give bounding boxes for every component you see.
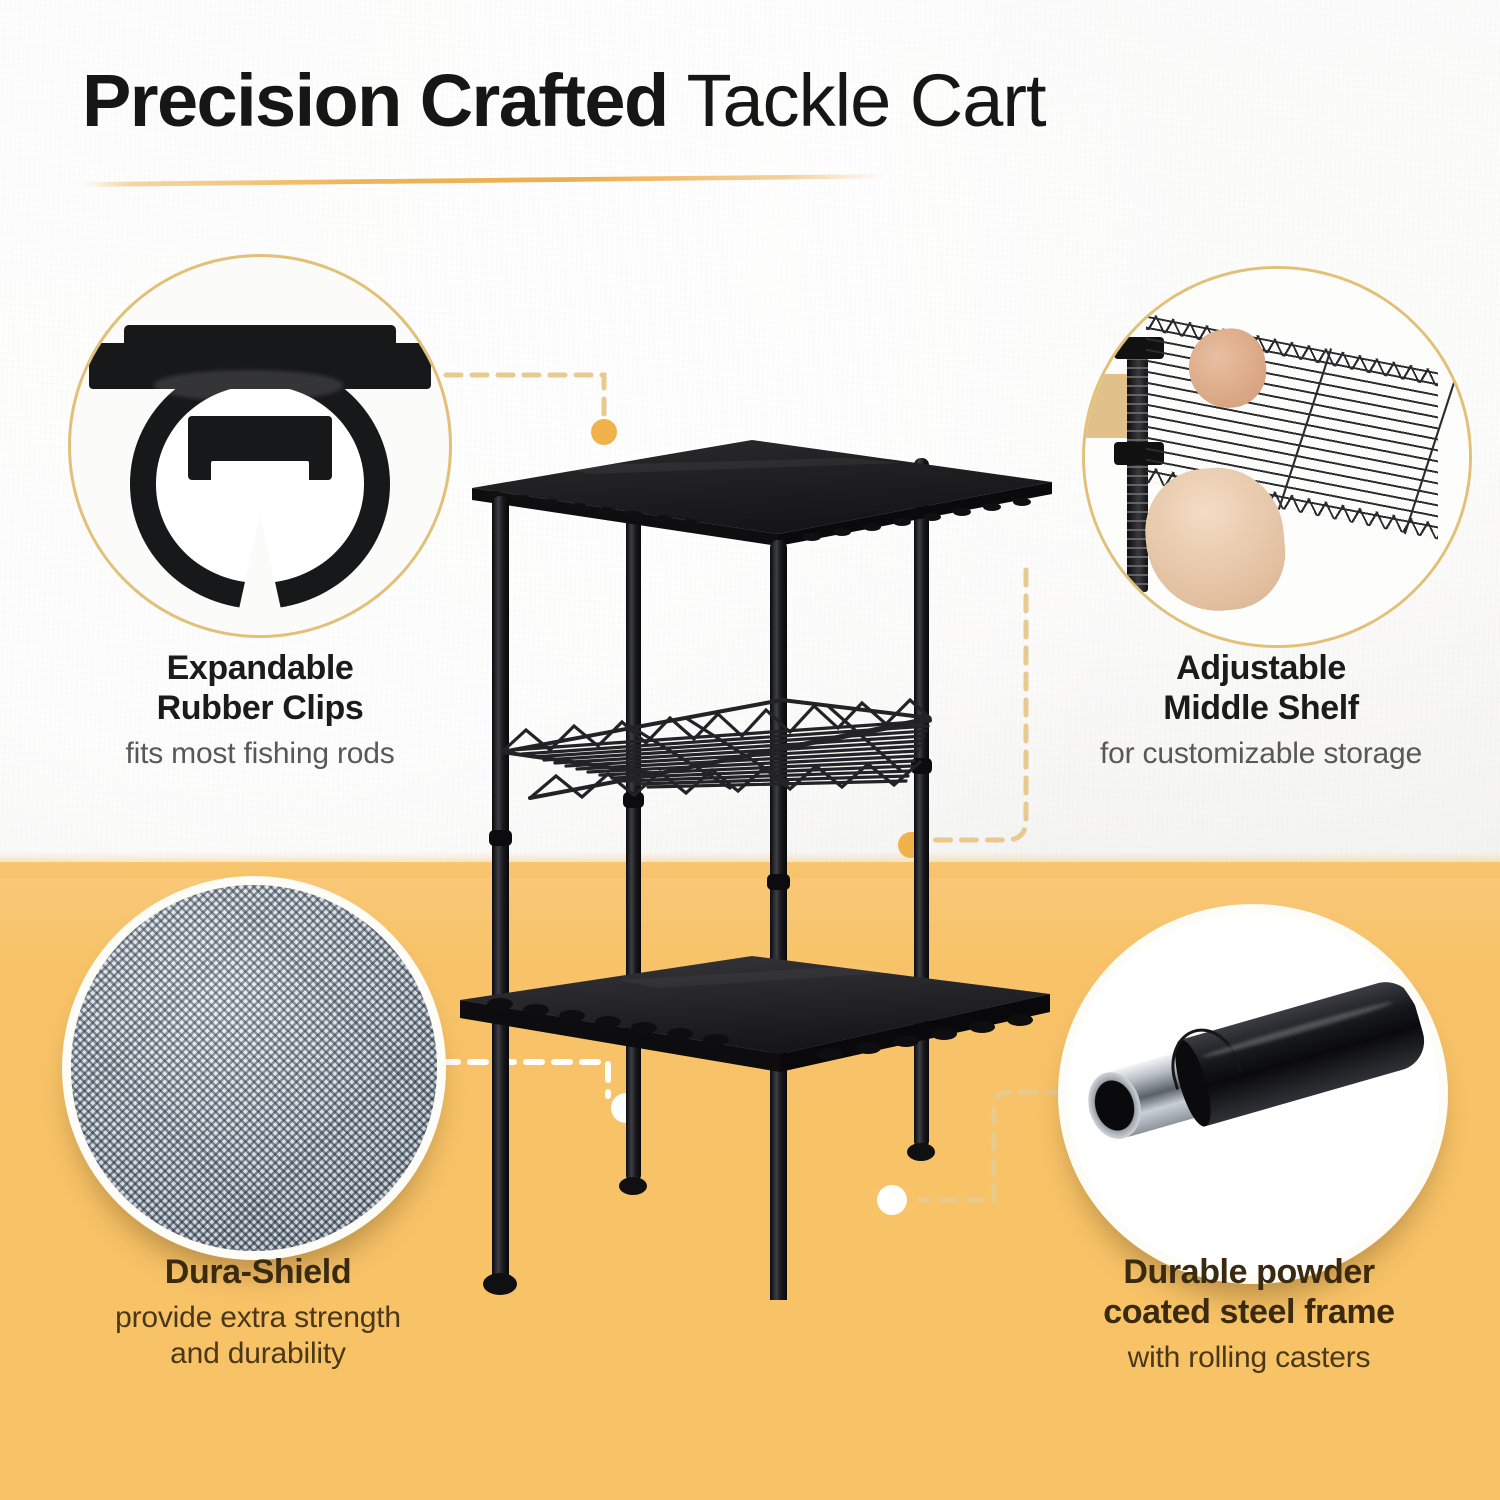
rubber-clip-icon bbox=[71, 257, 449, 635]
feature-label-adjustable-middle-shelf: Adjustable Middle Shelf for customizable… bbox=[1038, 648, 1484, 772]
feature-heading-line1: Adjustable bbox=[1038, 648, 1484, 688]
page-title: Precision Crafted Tackle Cart bbox=[0, 62, 1500, 140]
wire-shelf-adjust-icon bbox=[1085, 269, 1469, 645]
cart-rolling-casters bbox=[483, 1143, 935, 1300]
feature-image-steel-frame bbox=[1058, 904, 1448, 1284]
tackle-cart-illustration bbox=[430, 400, 1090, 1300]
page-title-bold: Precision Crafted bbox=[82, 59, 687, 142]
product-image-tackle-cart bbox=[430, 400, 1090, 1300]
feature-label-dura-shield: Dura-Shield provide extra strength and d… bbox=[38, 1252, 478, 1372]
cart-front-legs bbox=[489, 496, 932, 1300]
feature-subtitle-line1: provide extra strength bbox=[38, 1300, 478, 1336]
feature-heading-line1: Durable powder bbox=[1026, 1252, 1472, 1292]
feature-image-dura-shield bbox=[62, 876, 446, 1260]
feature-subtitle-line2: and durability bbox=[38, 1336, 478, 1372]
page-title-light: Tackle Cart bbox=[687, 59, 1046, 142]
feature-subtitle: with rolling casters bbox=[1026, 1340, 1472, 1376]
feature-subtitle: fits most fishing rods bbox=[40, 736, 480, 772]
cart-middle-wire-shelf bbox=[502, 700, 930, 798]
feature-subtitle: for customizable storage bbox=[1038, 736, 1484, 772]
cart-bottom-shelf bbox=[460, 956, 1050, 1072]
feature-heading-line1: Expandable bbox=[40, 648, 480, 688]
feature-heading-line2: coated steel frame bbox=[1026, 1292, 1472, 1332]
feature-heading-line2: Middle Shelf bbox=[1038, 688, 1484, 728]
steel-tube-icon bbox=[1067, 913, 1439, 1275]
feature-heading-line2: Rubber Clips bbox=[40, 688, 480, 728]
feature-label-expandable-rubber-clips: Expandable Rubber Clips fits most fishin… bbox=[40, 648, 480, 772]
feature-image-adjustable-middle-shelf bbox=[1082, 266, 1472, 648]
page-header: Precision Crafted Tackle Cart bbox=[0, 62, 1500, 140]
feature-heading-line1: Dura-Shield bbox=[38, 1252, 478, 1292]
feature-image-expandable-rubber-clips bbox=[68, 254, 452, 638]
feature-label-steel-frame: Durable powder coated steel frame with r… bbox=[1026, 1252, 1472, 1376]
cart-top-shelf bbox=[472, 440, 1052, 546]
weave-texture-icon bbox=[71, 885, 437, 1251]
